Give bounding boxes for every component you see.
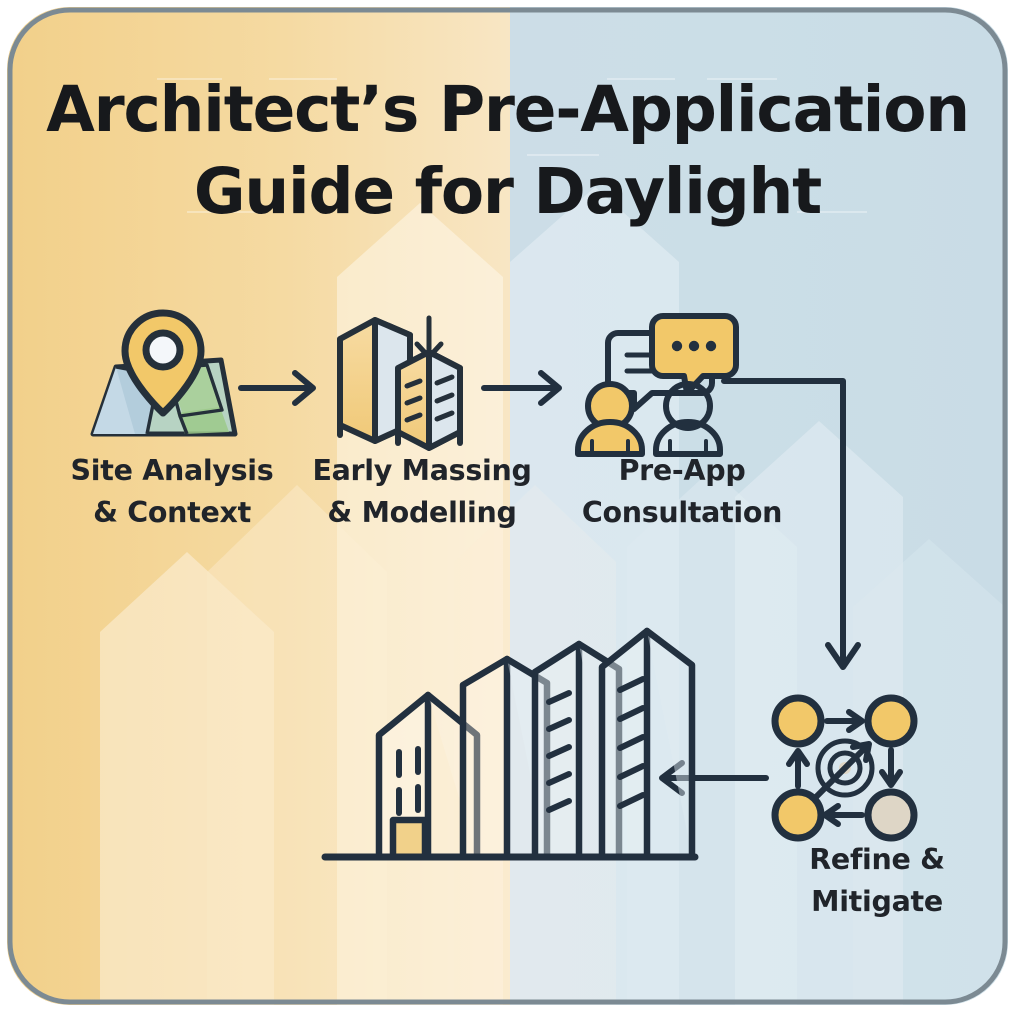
step-label-refine-mitigate-line-1: Refine & <box>747 839 1007 881</box>
infographic-root: Architect’s Pre-Application Guide for Da… <box>0 0 1015 1012</box>
step-label-pre-app-consultation: Pre-App Consultation <box>532 450 832 534</box>
iteration-cycle-icon <box>775 698 914 838</box>
step-label-pre-app-consultation-line-2: Consultation <box>532 492 832 534</box>
step-label-pre-app-consultation-line-1: Pre-App <box>532 450 832 492</box>
step-label-refine-mitigate: Refine & Mitigate <box>747 839 1007 923</box>
step-label-refine-mitigate-line-2: Mitigate <box>747 881 1007 923</box>
infographic-card: Architect’s Pre-Application Guide for Da… <box>7 7 1008 1005</box>
